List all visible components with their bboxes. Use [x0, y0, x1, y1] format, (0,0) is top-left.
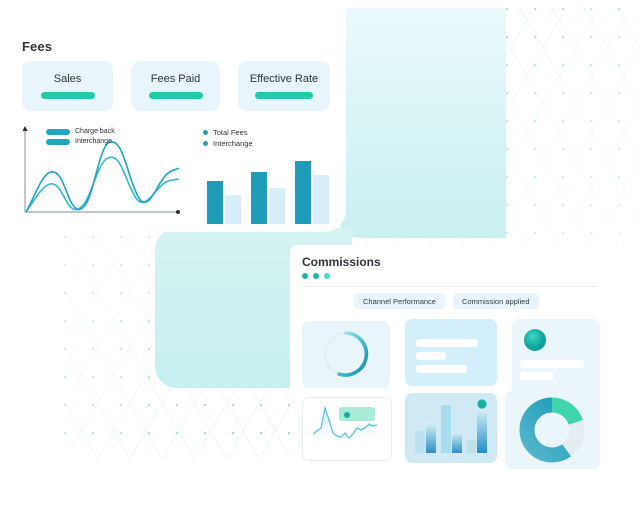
- legend-label: Charge back: [75, 128, 115, 135]
- placeholder-line: [520, 360, 584, 368]
- bar-chart-fees: Total Fees Interchange: [203, 128, 333, 224]
- donut-chart-svg: [505, 391, 600, 469]
- placeholder-line: [416, 352, 446, 360]
- tab-channel-performance[interactable]: Channel Performance: [354, 293, 445, 309]
- tab-label: Channel Performance: [363, 297, 436, 306]
- widget-avatar-lines[interactable]: [512, 319, 600, 401]
- dot-indicator-3: [324, 273, 330, 279]
- widget-bar-chart[interactable]: [405, 393, 497, 463]
- kpi-value-placeholder-bar: [255, 92, 313, 99]
- kpi-label: Sales: [54, 73, 82, 85]
- ring-progress-svg: [302, 321, 390, 388]
- window-dots: [302, 273, 330, 279]
- bar-group: [251, 172, 285, 224]
- bar: [426, 423, 436, 453]
- tooltip-dot-icon: [344, 412, 350, 418]
- bar-group: [207, 181, 241, 224]
- widget-text-lines[interactable]: [405, 319, 497, 386]
- screenshot-canvas: Fees Sales Fees Paid Effective Rate: [0, 0, 640, 510]
- legend-item: Total Fees: [203, 128, 253, 137]
- legend-swatch-icon: [46, 129, 70, 135]
- kpi-card-fees-paid[interactable]: Fees Paid: [131, 61, 220, 111]
- bar: [415, 431, 425, 453]
- kpi-value-placeholder-bar: [149, 92, 203, 99]
- teal-panel-top: [338, 8, 506, 238]
- line-chart-fees: Charge back Interchange: [16, 124, 184, 224]
- kpi-label: Effective Rate: [250, 73, 318, 85]
- bar-highlight-dot-icon: [477, 399, 486, 408]
- avatar: [520, 325, 550, 355]
- placeholder-line: [416, 339, 478, 347]
- bar: [441, 405, 451, 453]
- bar: [477, 411, 487, 453]
- tab-commission-applied[interactable]: Commission applied: [453, 293, 539, 309]
- line-chart-legend: Charge back Interchange: [46, 128, 115, 148]
- legend-item: Charge back: [46, 128, 115, 135]
- page-title: Fees: [22, 39, 52, 54]
- commissions-title: Commissions: [302, 255, 381, 269]
- bar: [452, 432, 462, 453]
- bar-group: [295, 161, 329, 224]
- kpi-label: Fees Paid: [151, 73, 201, 85]
- bar-interchange: [225, 195, 241, 224]
- widget-donut-chart[interactable]: [505, 391, 600, 469]
- dot-indicator-2: [313, 273, 319, 279]
- widget-ring-progress[interactable]: [302, 321, 390, 388]
- legend-label: Total Fees: [213, 128, 248, 137]
- bar-interchange: [313, 175, 329, 224]
- bar-interchange: [269, 188, 285, 224]
- kpi-card-sales[interactable]: Sales: [22, 61, 113, 111]
- widget-sparkline[interactable]: [302, 397, 392, 461]
- tab-label: Commission applied: [462, 297, 530, 306]
- fees-panel: Fees Sales Fees Paid Effective Rate: [0, 0, 346, 232]
- commissions-panel: Commissions Channel Performance Commissi…: [290, 245, 610, 490]
- bar-total-fees: [295, 161, 311, 224]
- legend-label: Interchange: [75, 138, 112, 145]
- legend-swatch-icon: [46, 139, 70, 145]
- ring-progress-arc: [339, 333, 366, 375]
- bar-chart-svg: [405, 393, 497, 463]
- tooltip-pill: [339, 407, 375, 421]
- y-axis-arrow: [22, 126, 27, 131]
- dot-indicator-1: [302, 273, 308, 279]
- placeholder-line: [520, 372, 554, 380]
- legend-item: Interchange: [46, 138, 115, 145]
- legend-dot-icon: [203, 130, 208, 135]
- x-axis-endpoint: [176, 210, 180, 214]
- series-interchange-path: [26, 157, 179, 212]
- bar-total-fees: [207, 181, 223, 224]
- kpi-card-effective-rate[interactable]: Effective Rate: [238, 61, 330, 111]
- bar-chart-plot-area: [207, 146, 329, 224]
- placeholder-line: [416, 365, 467, 373]
- kpi-value-placeholder-bar: [41, 92, 95, 99]
- series-charge-back-path: [26, 142, 179, 212]
- bar: [467, 440, 476, 453]
- bar-total-fees: [251, 172, 267, 224]
- divider: [302, 286, 598, 287]
